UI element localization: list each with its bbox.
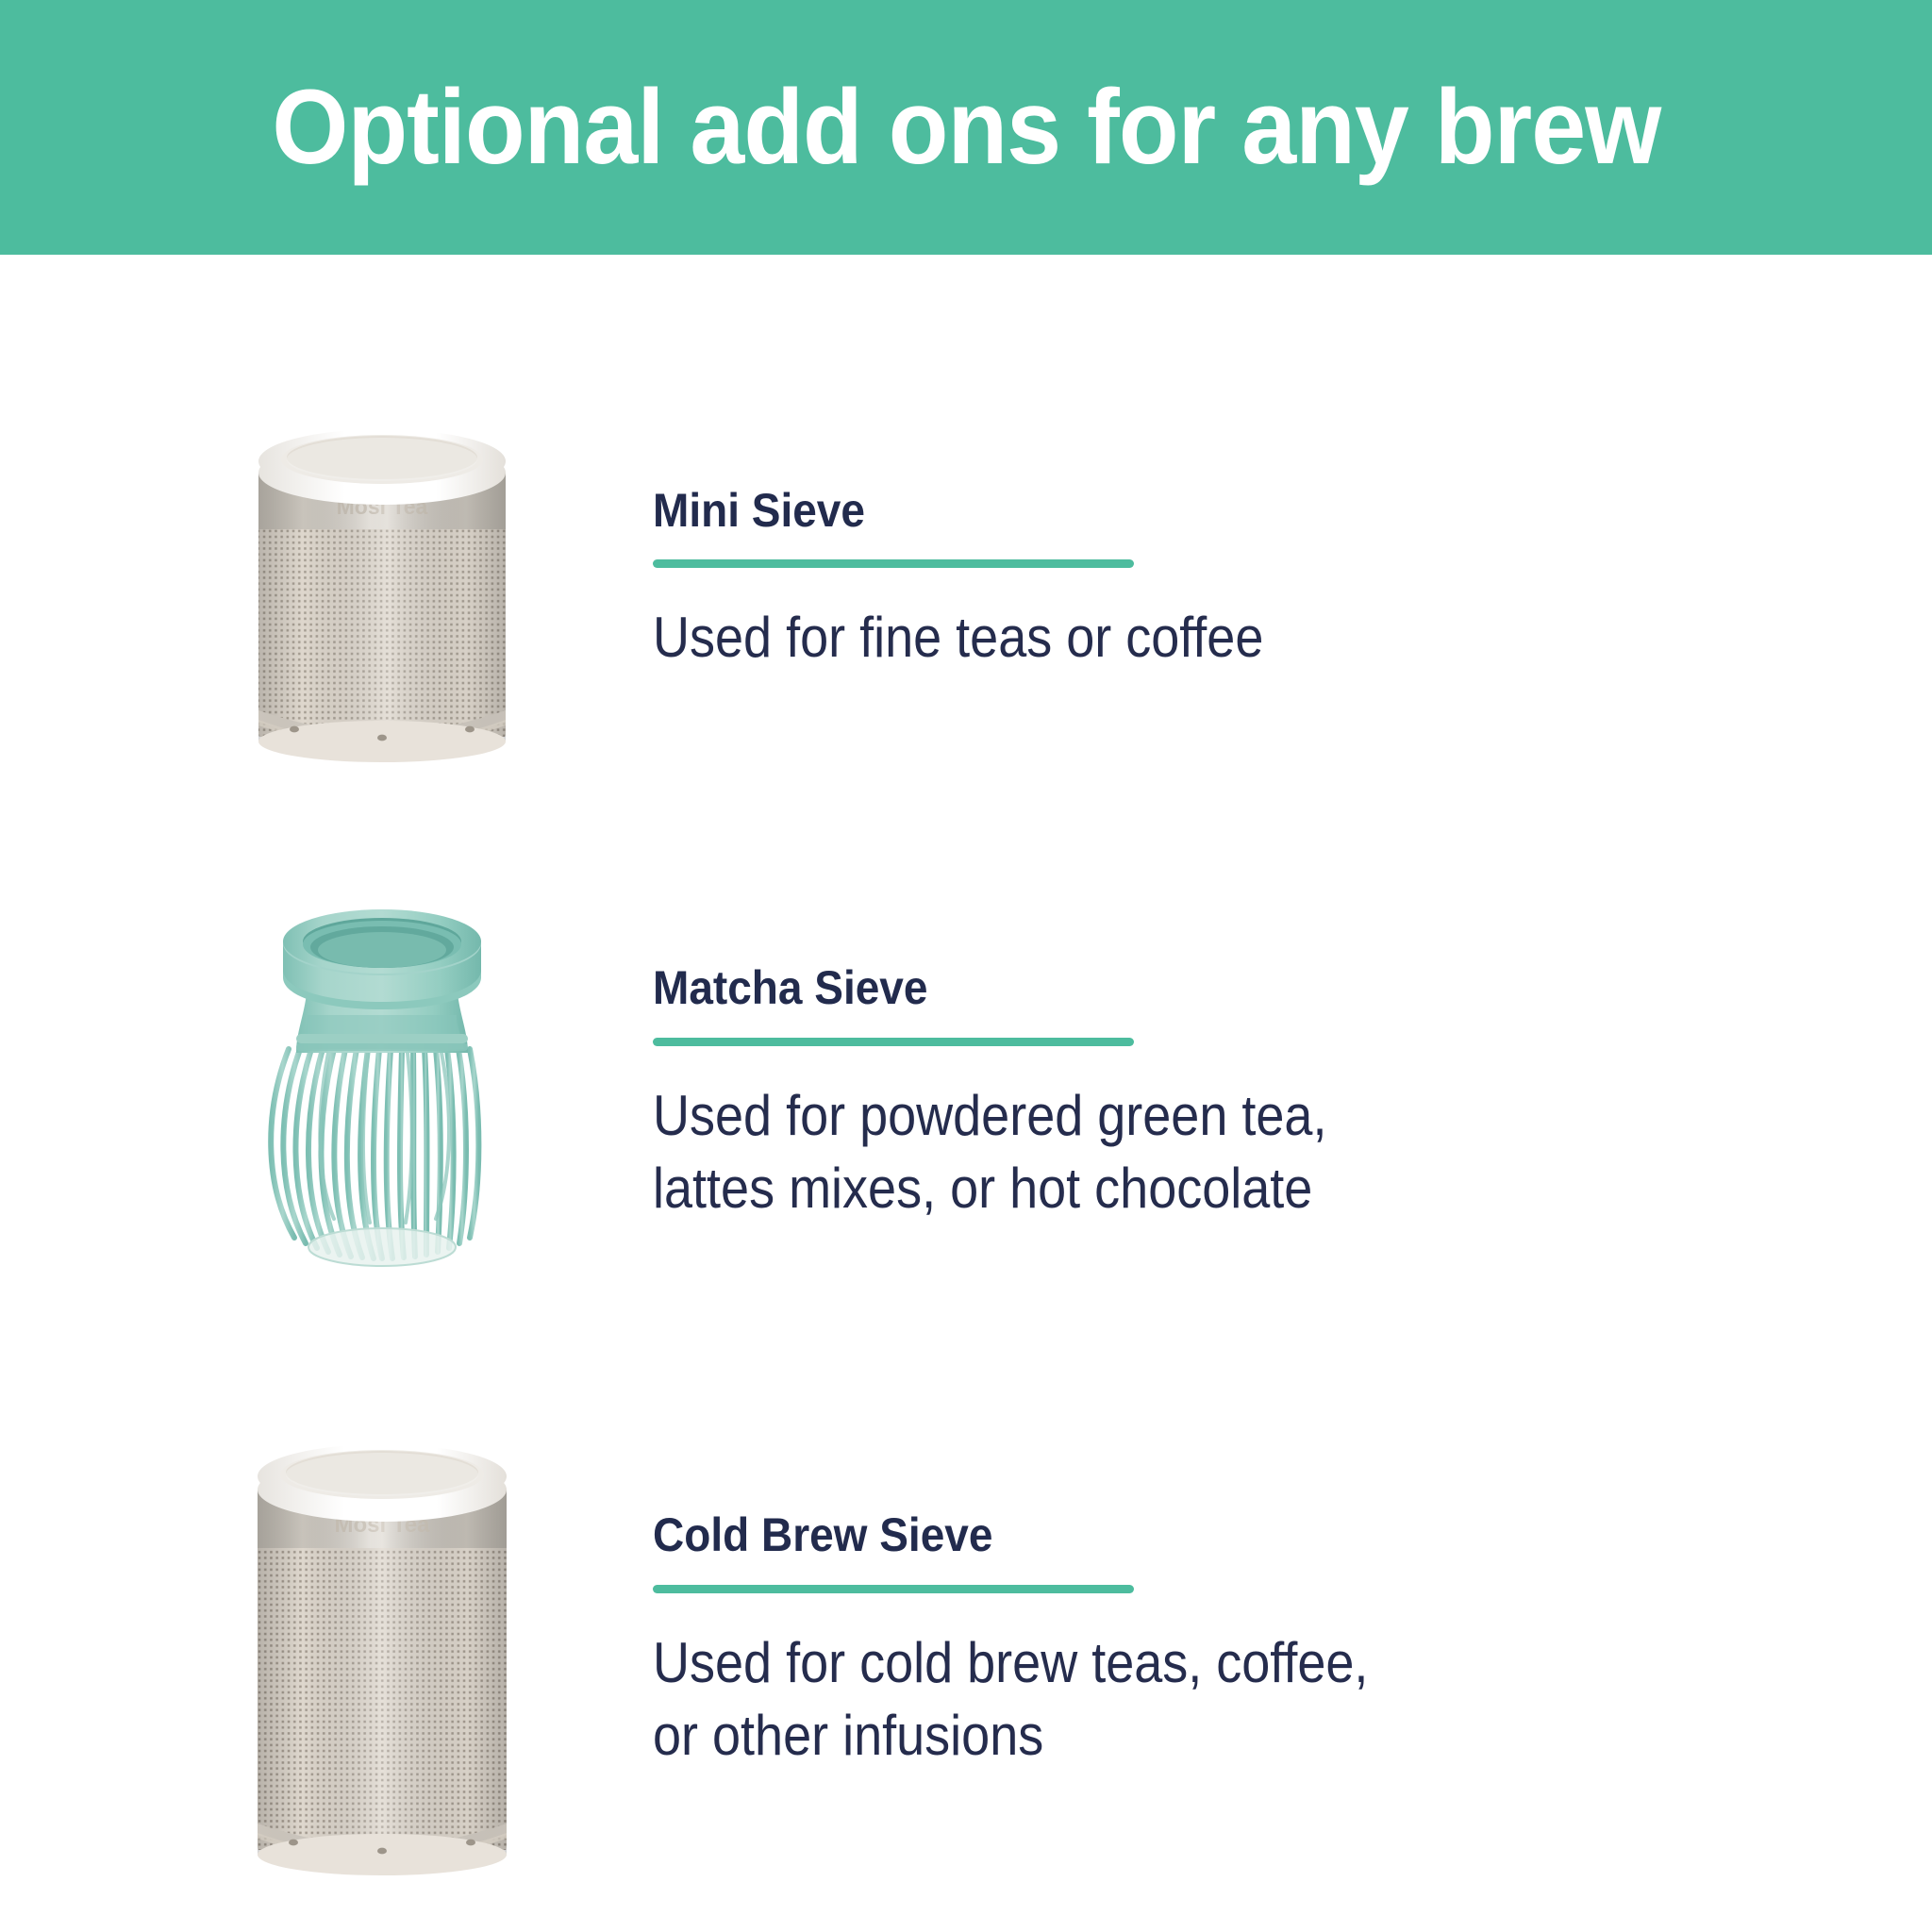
header-banner: Optional add ons for any brew (0, 0, 1932, 255)
item-copy: Mini Sieve Used for fine teas or coffee (653, 358, 1766, 802)
item-title: Mini Sieve (653, 486, 1677, 536)
cold-brew-sieve-image: Mosi Tea (217, 1377, 547, 1906)
mini-sieve-illustration: Mosi Tea (226, 382, 538, 778)
item-description: Used for cold brew teas, coffee, or othe… (653, 1627, 1655, 1773)
cold-brew-sieve-illustration: Mosi Tea (222, 1391, 542, 1891)
item-title: Cold Brew Sieve (653, 1510, 1677, 1560)
product-list: Mosi Tea (0, 255, 1932, 1932)
page-title: Optional add ons for any brew (272, 75, 1660, 180)
item-description: Used for fine teas or coffee (653, 602, 1655, 675)
accent-rule (653, 1038, 1134, 1046)
list-item: Matcha Sieve Used for powdered green tea… (0, 858, 1932, 1330)
matcha-sieve-image (217, 858, 547, 1330)
mini-sieve-image: Mosi Tea (217, 358, 547, 802)
item-description: Used for powdered green tea, lattes mixe… (653, 1080, 1655, 1225)
item-copy: Cold Brew Sieve Used for cold brew teas,… (653, 1377, 1766, 1906)
list-item: Mosi Tea (0, 358, 1932, 802)
item-title: Matcha Sieve (653, 963, 1677, 1013)
item-copy: Matcha Sieve Used for powdered green tea… (653, 858, 1766, 1330)
infographic-page: Optional add ons for any brew (0, 0, 1932, 1932)
matcha-sieve-illustration (226, 887, 538, 1302)
accent-rule (653, 1585, 1134, 1593)
accent-rule (653, 559, 1134, 568)
list-item: Mosi Tea Cold Brew Sieve (0, 1377, 1932, 1906)
